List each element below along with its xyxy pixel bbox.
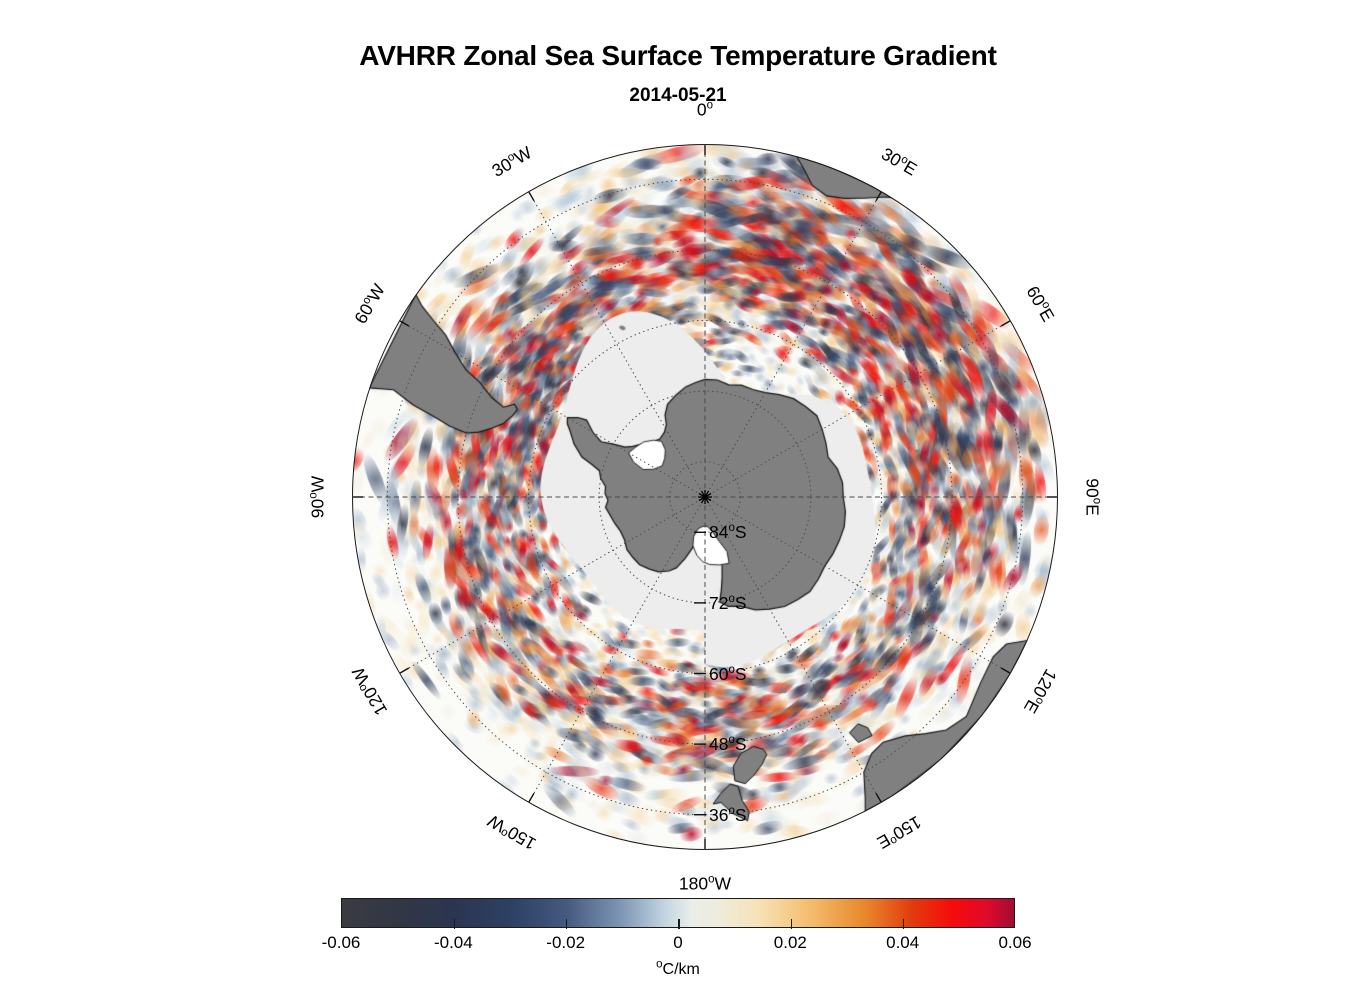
colorbar-tick-label-1: -0.04 [434, 933, 473, 953]
map-clip-region [352, 144, 1058, 850]
lon-label-90W: 90oW [308, 476, 329, 518]
lat-label-36S: 36oS [709, 805, 747, 826]
polar-map[interactable] [352, 144, 1058, 850]
colorbar-tick-label-3: 0 [673, 933, 682, 953]
colorbar-tick-4 [791, 919, 792, 929]
lat-label-48S: 48oS [709, 734, 747, 755]
colorbar-tick-2 [566, 919, 567, 929]
colorbar-gradient [341, 898, 1015, 928]
lon-label-0: 0o [697, 100, 713, 121]
colorbar-tick-label-4: 0.02 [774, 933, 807, 953]
colorbar-unit-label: oC/km [341, 961, 1015, 979]
colorbar-tick-labels: -0.06-0.04-0.0200.020.040.06 [341, 933, 1015, 957]
colorbar-tick-5 [903, 919, 904, 929]
colorbar-block: -0.06-0.04-0.0200.020.040.06 oC/km [0, 898, 1356, 979]
colorbar-tick-1 [454, 919, 455, 929]
colorbar-tick-label-5: 0.04 [886, 933, 919, 953]
page-title: AVHRR Zonal Sea Surface Temperature Grad… [0, 40, 1356, 72]
sst-gradient-field [352, 144, 1058, 850]
colorbar-tick-3 [678, 919, 679, 929]
lon-label-90E: 90oE [1082, 478, 1103, 516]
lat-label-72S: 72oS [709, 593, 747, 614]
colorbar-tick-label-6: 0.06 [998, 933, 1031, 953]
lat-label-84S: 84oS [709, 522, 747, 543]
date-subtitle: 2014-05-21 [0, 85, 1356, 107]
title-block: AVHRR Zonal Sea Surface Temperature Grad… [0, 0, 1356, 107]
colorbar-tick-label-0: -0.06 [322, 933, 361, 953]
lat-label-60S: 60oS [709, 664, 747, 685]
lon-label-180W: 180oW [679, 874, 731, 895]
colorbar-tick-label-2: -0.02 [546, 933, 585, 953]
